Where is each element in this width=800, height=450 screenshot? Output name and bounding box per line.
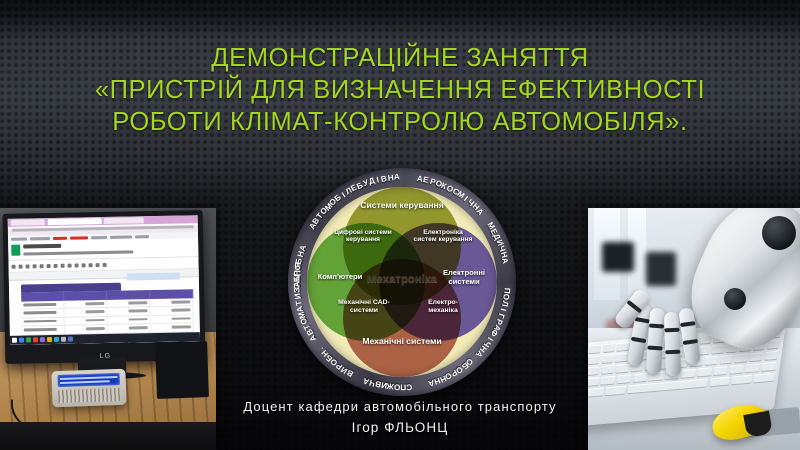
robot-finger	[664, 312, 681, 376]
presenter-name: Ігор ФЛЬОНЦ	[0, 417, 800, 438]
sheets-header	[8, 238, 198, 260]
venn-label-control-systems: Системи керування	[353, 201, 451, 211]
blurred-monitor	[602, 242, 634, 272]
lcd-display	[58, 373, 120, 387]
title-line-3: РОБОТИ КЛІМАТ-КОНТРОЛЮ АВТОМОБІЛЯ».	[0, 106, 800, 138]
sheets-logo-icon	[11, 245, 20, 256]
monitor-screen	[8, 215, 200, 345]
venn-label-mechatronics: Мехатроніка	[347, 273, 457, 286]
monitor: LG	[3, 210, 206, 364]
blurred-monitor	[646, 252, 676, 286]
sheets-selected-range	[127, 273, 180, 281]
sheets-menubar	[23, 250, 133, 255]
venn-label-control-electronics: Електроніка систем керування	[412, 229, 474, 244]
wrist-joint	[724, 288, 746, 310]
sheets-doc-title	[23, 244, 61, 249]
title-line-2: «ПРИСТРІЙ ДЛЯ ВИЗНАЧЕННЯ ЕФЕКТИВНОСТІ	[0, 74, 800, 106]
mechatronics-venn-wheel: ОБРОБНААВТОМОБІЛЕБУДІВНААЕРОКОСМІЧНАМЕДИ…	[288, 168, 516, 396]
venn-label-mechanical-cad: Механічні CAD-системи	[333, 299, 395, 314]
venn-label-digital-control-systems: Цифрові системи керування	[334, 229, 392, 244]
slide-footer: Доцент кафедри автомобільного транспорту…	[0, 396, 800, 438]
venn-label-electromechanics: Електро- механіка	[415, 299, 471, 314]
presentation-slide: LG	[0, 0, 800, 450]
venn-label-mechanical-systems: Механічні системи	[353, 337, 451, 347]
slide-title: ДЕМОНСТРАЦІЙНЕ ЗАНЯТТЯ «ПРИСТРІЙ ДЛЯ ВИЗ…	[0, 42, 800, 138]
pc-tower	[155, 341, 209, 399]
arm-joint	[762, 216, 796, 250]
venn-circles: Системи керування Комп'ютери Електронні …	[307, 187, 497, 377]
title-line-1: ДЕМОНСТРАЦІЙНЕ ЗАНЯТТЯ	[0, 42, 800, 74]
presenter-role: Доцент кафедри автомобільного транспорту	[0, 396, 800, 417]
